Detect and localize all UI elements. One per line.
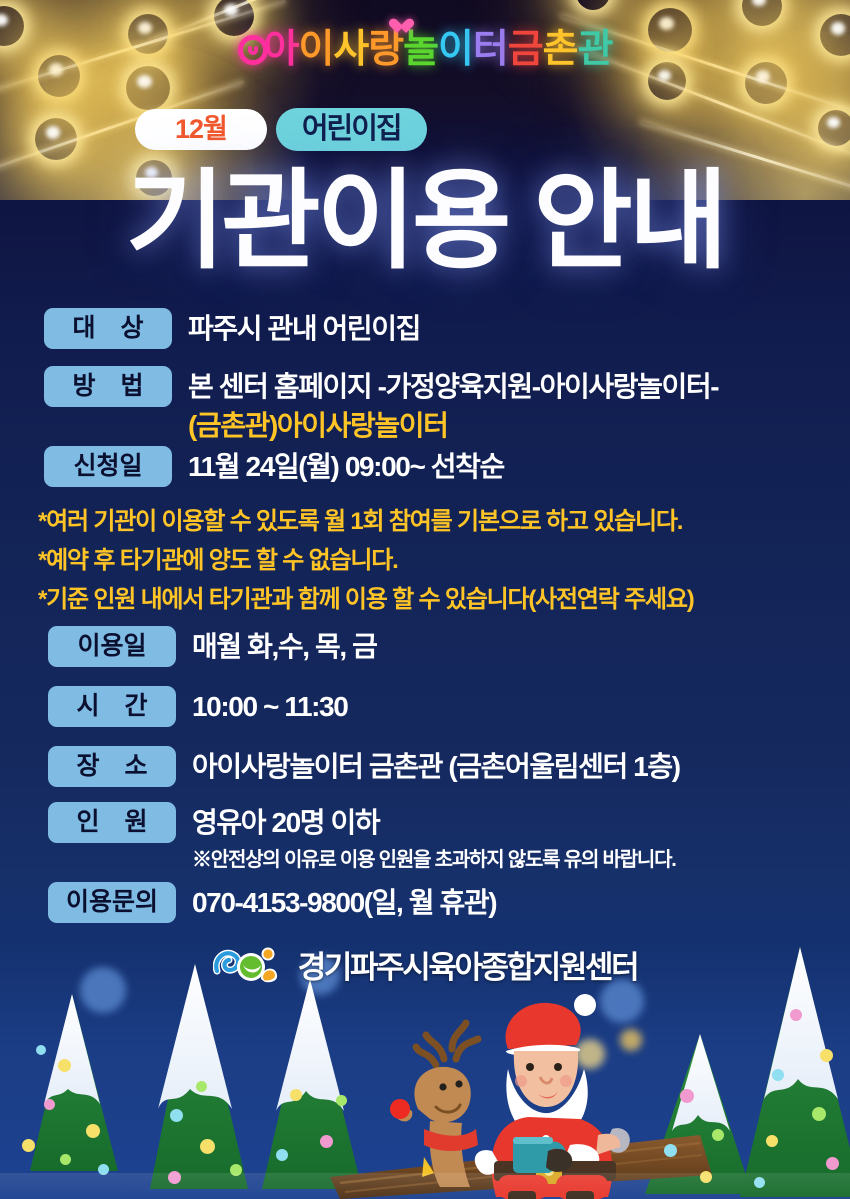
info-row-apply-date: 신청일 11월 24일(월) 09:00~ 선착순 xyxy=(44,446,504,487)
detail-row-capacity: 인 원 영유아 20명 이하 ※안전상의 이유로 이용 인원을 초과하지 않도록… xyxy=(48,802,676,873)
label-apply-date: 신청일 xyxy=(44,446,172,487)
logo-char-1: 이 xyxy=(298,30,333,69)
center-logo-mark-icon xyxy=(213,941,291,987)
value-apply-date: 11월 24일(월) 09:00~ 선착순 xyxy=(188,446,504,485)
label-capacity: 인 원 xyxy=(48,802,176,843)
footer-logo: 경기파주시육아종합지원센터 xyxy=(0,941,850,987)
badge-row: 12월 어린이집 xyxy=(135,108,427,151)
value-method-line1: 본 센터 홈페이지 -가정양육지원-아이사랑놀이터- xyxy=(188,366,718,405)
christmas-tree xyxy=(150,964,248,1189)
value-method-line2: (금촌관)아이사랑놀이터 xyxy=(188,405,718,444)
month-badge: 12월 xyxy=(135,109,267,150)
value-usage-days: 매월 화,수, 목, 금 xyxy=(192,626,376,665)
logo-char-0: 아 xyxy=(264,30,299,69)
poster-root: 아이사랑놀이터금촌관 12월 어린이집 기관이용 안내 대 상 파주시 관내 어… xyxy=(0,0,850,1199)
label-time: 시 간 xyxy=(48,686,176,727)
logo-char-4: 놀 xyxy=(403,30,438,69)
capacity-safety-note: ※안전상의 이유로 이용 인원을 초과하지 않도록 유의 바랍니다. xyxy=(192,847,676,873)
detail-row-usage-days: 이용일 매월 화,수, 목, 금 xyxy=(48,626,376,667)
notice-item: *기준 인원 내에서 타기관과 함께 이용 할 수 있습니다(사전연락 주세요) xyxy=(38,581,694,620)
label-contact: 이용문의 xyxy=(48,882,176,923)
light-bulb-icon xyxy=(35,118,77,160)
detail-row-location: 장 소 아이사랑놀이터 금촌관 (금촌어울림센터 1층) xyxy=(48,746,680,787)
logo-char-8: 촌 xyxy=(543,30,578,69)
detail-row-time: 시 간 10:00 ~ 11:30 xyxy=(48,686,347,727)
light-bulb-icon xyxy=(818,110,850,146)
logo-char-2: 사 xyxy=(333,30,368,69)
page-title: 기관이용 안내 xyxy=(0,163,850,280)
value-capacity: 영유아 20명 이하 xyxy=(192,802,676,841)
christmas-tree xyxy=(30,994,118,1171)
light-bulb-icon xyxy=(126,66,170,110)
notice-item: *예약 후 타기관에 양도 할 수 없습니다. xyxy=(38,542,694,581)
logo-char-5: 이 xyxy=(438,30,473,69)
heart-icon xyxy=(393,19,408,33)
info-row-target: 대 상 파주시 관내 어린이집 xyxy=(44,308,420,349)
info-row-method: 방 법 본 센터 홈페이지 -가정양육지원-아이사랑놀이터- (금촌관)아이사랑… xyxy=(44,366,718,444)
smiley-face-icon xyxy=(238,35,268,65)
label-usage-days: 이용일 xyxy=(48,626,176,667)
notice-list: *여러 기관이 이용할 수 있도록 월 1회 참여를 기본으로 하고 있습니다.… xyxy=(38,503,694,620)
logo-char-7: 금 xyxy=(508,30,543,69)
notice-item: *여러 기관이 이용할 수 있도록 월 1회 참여를 기본으로 하고 있습니다. xyxy=(38,503,694,542)
audience-type-badge: 어린이집 xyxy=(276,108,427,151)
label-target: 대 상 xyxy=(44,308,172,349)
value-time: 10:00 ~ 11:30 xyxy=(192,686,347,725)
brand-logo: 아이사랑놀이터금촌관 xyxy=(0,30,850,69)
light-bulb-icon xyxy=(576,0,610,10)
logo-char-9: 관 xyxy=(578,30,613,69)
detail-row-contact: 이용문의 070-4153-9800(일, 월 휴관) xyxy=(48,882,496,923)
light-bulb-icon xyxy=(742,0,782,26)
label-location: 장 소 xyxy=(48,746,176,787)
label-method: 방 법 xyxy=(44,366,172,407)
value-contact-phone: 070-4153-9800(일, 월 휴관) xyxy=(192,882,496,921)
logo-char-6: 터 xyxy=(473,30,508,69)
logo-char-3: 랑 xyxy=(368,30,403,69)
center-name: 경기파주시육아종합지원센터 xyxy=(298,942,638,987)
value-target: 파주시 관내 어린이집 xyxy=(188,308,420,347)
value-location: 아이사랑놀이터 금촌관 (금촌어울림센터 1층) xyxy=(192,746,680,785)
